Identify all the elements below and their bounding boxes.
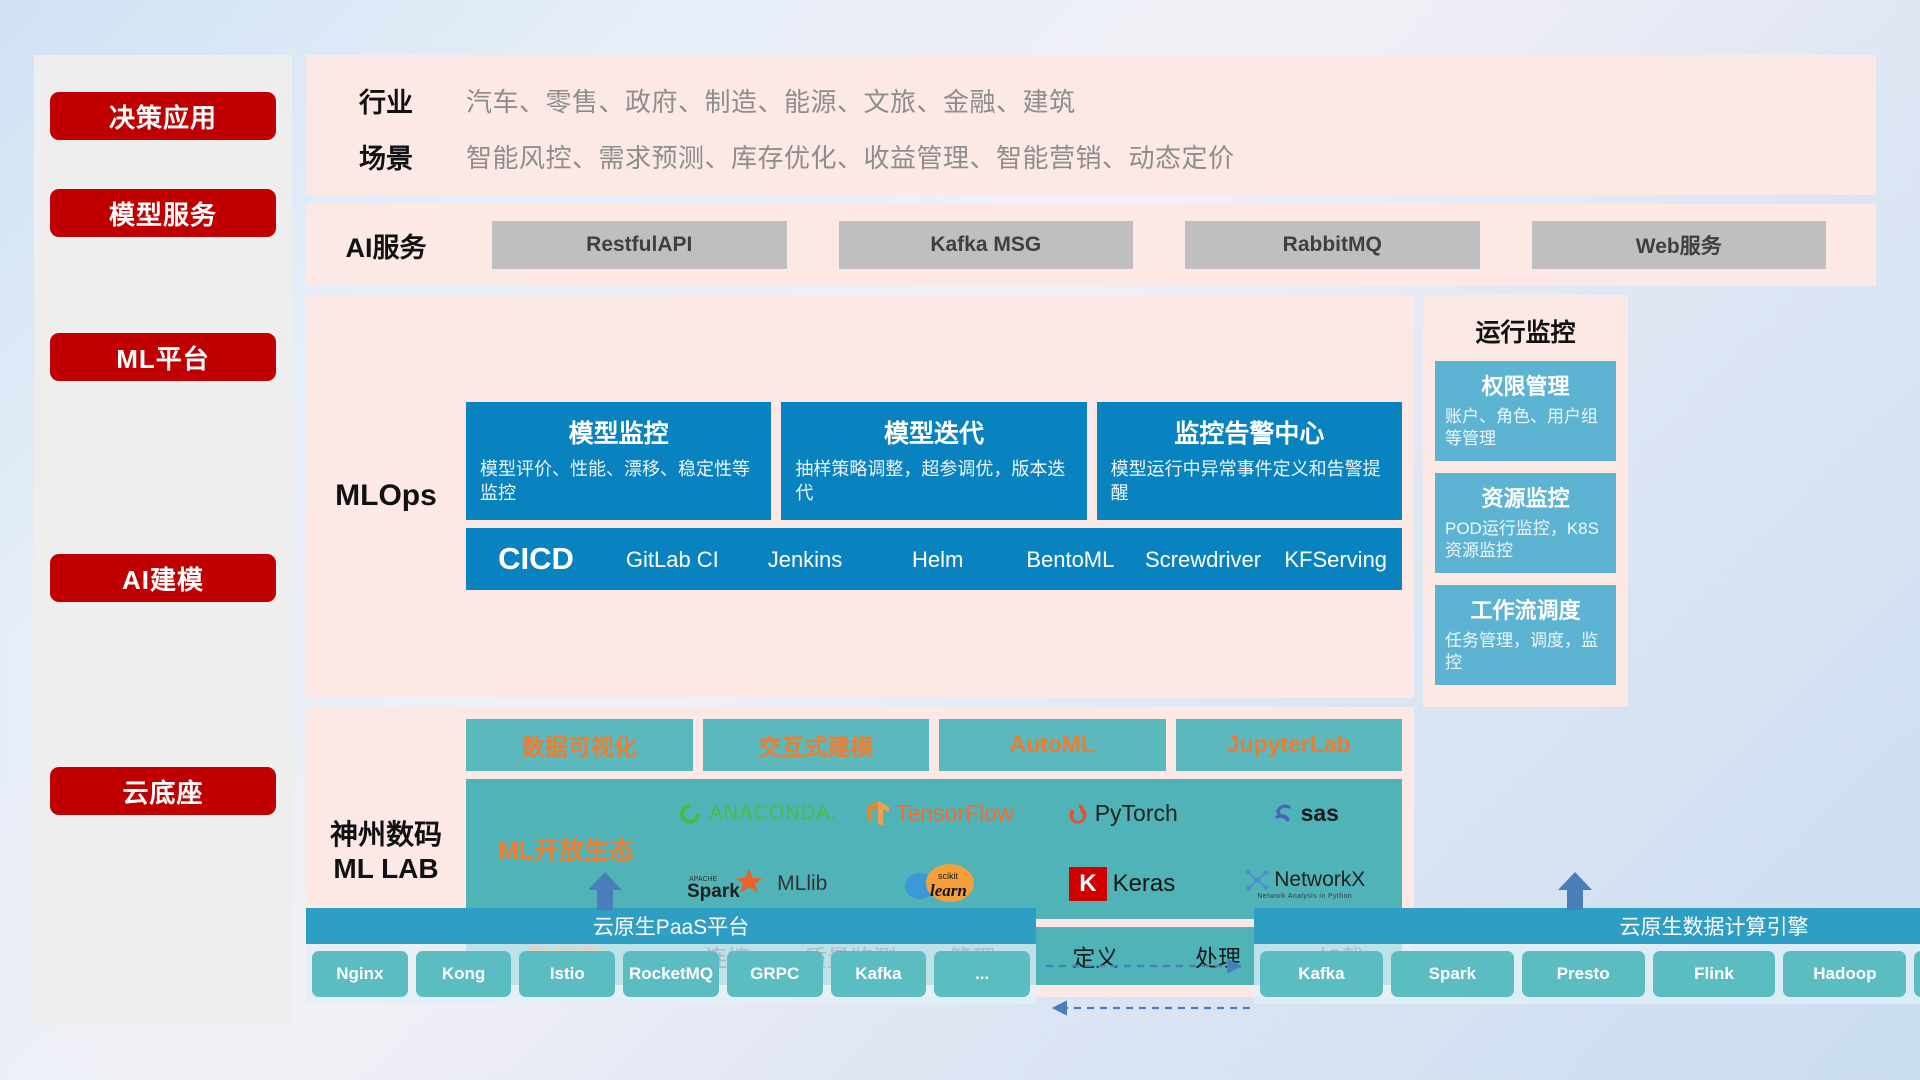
sas-logo: sas	[1271, 800, 1339, 827]
stack-layer-rail: 决策应用 模型服务 ML平台 AI建模 云底座	[34, 55, 292, 1025]
sas-logo-text: sas	[1301, 800, 1339, 827]
scenario-label: 场景	[306, 137, 466, 176]
paas-chip-kafka[interactable]: Kafka	[831, 951, 927, 997]
mlops-card-desc: 模型评价、性能、漂移、稳定性等监控	[480, 458, 757, 505]
monitor-card-permission[interactable]: 权限管理 账户、角色、用户组等管理	[1435, 361, 1616, 461]
panel-runtime-monitoring: 运行监控 权限管理 账户、角色、用户组等管理 资源监控 POD运行监控，K8S资…	[1423, 295, 1628, 707]
engine-chip-hadoop[interactable]: Hadoop	[1783, 951, 1906, 997]
monitor-card-resource[interactable]: 资源监控 POD运行监控，K8S资源监控	[1435, 473, 1616, 573]
mlops-card-title: 模型迭代	[795, 414, 1072, 450]
tensorflow-logo: TensorFlow	[866, 800, 1014, 828]
bidirectional-connector	[1044, 952, 1254, 1022]
mlops-card-desc: 抽样策略调整，超参调优，版本迭代	[795, 458, 1072, 505]
tool-chip-data-visualization[interactable]: 数据可视化	[466, 719, 693, 771]
paas-chip-rocketmq[interactable]: RocketMQ	[623, 951, 719, 997]
industry-value: 汽车、零售、政府、制造、能源、文旅、金融、建筑	[466, 82, 1076, 119]
engine-chip-presto[interactable]: Presto	[1522, 951, 1645, 997]
cloud-paas-header: 云原生PaaS平台	[306, 908, 1036, 944]
band-ai-service: AI服务 RestfulAPI Kafka MSG RabbitMQ Web服务	[306, 204, 1876, 286]
rail-item-decision-app[interactable]: 决策应用	[50, 92, 276, 140]
mlops-card-title: 监控告警中心	[1111, 414, 1388, 450]
monitor-card-title: 资源监控	[1445, 481, 1606, 513]
industry-label: 行业	[306, 81, 466, 120]
rail-item-ml-platform[interactable]: ML平台	[50, 333, 276, 381]
band-mlops: MLOps 模型监控 模型评价、性能、漂移、稳定性等监控 模型迭代 抽样策略调整…	[306, 295, 1414, 698]
ai-service-label: AI服务	[306, 226, 466, 265]
tool-chip-jupyterlab[interactable]: JupyterLab	[1176, 719, 1403, 771]
cicd-item-jenkins[interactable]: Jenkins	[739, 548, 872, 571]
paas-chip-nginx[interactable]: Nginx	[312, 951, 408, 997]
rail-item-ai-modeling[interactable]: AI建模	[50, 554, 276, 602]
monitor-panel-header: 运行监控	[1435, 313, 1616, 349]
tensorflow-mark-icon	[866, 800, 890, 828]
industry-row: 行业 汽车、零售、政府、制造、能源、文旅、金融、建筑	[306, 75, 1876, 125]
mlops-card-list: 模型监控 模型评价、性能、漂移、稳定性等监控 模型迭代 抽样策略调整，超参调优，…	[466, 402, 1402, 520]
ml-lab-tool-list: 数据可视化 交互式建模 AutoML JupyterLab	[466, 719, 1402, 771]
band-decision-application: 行业 汽车、零售、政府、制造、能源、文旅、金融、建筑 场景 智能风控、需求预测、…	[306, 55, 1876, 195]
anaconda-logo: ANACONDA.	[677, 801, 837, 827]
monitor-card-desc: POD运行监控，K8S资源监控	[1445, 518, 1606, 563]
pytorch-flame-icon	[1067, 801, 1089, 827]
monitor-card-desc: 账户、角色、用户组等管理	[1445, 406, 1606, 451]
cloud-paas-group: 云原生PaaS平台 Nginx Kong Istio RocketMQ GRPC…	[306, 908, 1036, 1004]
ai-chip-restful-api[interactable]: RestfulAPI	[492, 221, 787, 269]
monitor-card-title: 权限管理	[1445, 369, 1606, 401]
paas-chip-grpc[interactable]: GRPC	[727, 951, 823, 997]
scenario-row: 场景 智能风控、需求预测、库存优化、收益管理、智能营销、动态定价	[306, 131, 1876, 181]
mlops-card-desc: 模型运行中异常事件定义和告警提醒	[1111, 458, 1388, 505]
rail-item-cloud-base[interactable]: 云底座	[50, 767, 276, 815]
cloud-engine-group: 云原生数据计算引擎 Kafka Spark Presto Flink Hadoo…	[1254, 908, 1920, 1004]
paas-chip-more[interactable]: ...	[934, 951, 1030, 997]
mlops-card-model-monitoring[interactable]: 模型监控 模型评价、性能、漂移、稳定性等监控	[466, 402, 771, 520]
cloud-engine-chip-list: Kafka Spark Presto Flink Hadoop Storm ..…	[1254, 944, 1920, 1004]
ai-chip-rabbitmq[interactable]: RabbitMQ	[1185, 221, 1480, 269]
monitor-card-workflow[interactable]: 工作流调度 任务管理，调度，监控	[1435, 585, 1616, 685]
cloud-paas-chip-list: Nginx Kong Istio RocketMQ GRPC Kafka ...	[306, 944, 1036, 1004]
pytorch-logo-text: PyTorch	[1095, 800, 1178, 827]
ml-lab-label-line1: 神州数码	[306, 818, 466, 852]
pytorch-logo: PyTorch	[1067, 800, 1178, 827]
cicd-title: CICD	[466, 541, 606, 577]
ai-service-chip-list: RestfulAPI Kafka MSG RabbitMQ Web服务	[466, 221, 1876, 269]
monitor-card-title: 工作流调度	[1445, 593, 1606, 625]
mlops-label: MLOps	[306, 479, 466, 513]
cicd-item-kfserving[interactable]: KFServing	[1269, 548, 1402, 571]
cloud-engine-header: 云原生数据计算引擎	[1254, 908, 1920, 944]
anaconda-ring-icon	[677, 801, 703, 827]
tool-chip-automl[interactable]: AutoML	[939, 719, 1166, 771]
mlops-card-model-iteration[interactable]: 模型迭代 抽样策略调整，超参调优，版本迭代	[781, 402, 1086, 520]
scenario-value: 智能风控、需求预测、库存优化、收益管理、智能营销、动态定价	[466, 138, 1235, 175]
engine-chip-spark[interactable]: Spark	[1391, 951, 1514, 997]
tool-chip-interactive-modeling[interactable]: 交互式建模	[703, 719, 930, 771]
up-arrow-icon	[1554, 870, 1596, 912]
ai-chip-web-service[interactable]: Web服务	[1532, 221, 1827, 269]
cicd-item-gitlab-ci[interactable]: GitLab CI	[606, 548, 739, 571]
sas-swirl-icon	[1271, 802, 1295, 826]
mlops-card-title: 模型监控	[480, 414, 757, 450]
cicd-item-screwdriver[interactable]: Screwdriver	[1137, 548, 1270, 571]
paas-chip-kong[interactable]: Kong	[416, 951, 512, 997]
monitor-card-desc: 任务管理，调度，监控	[1445, 630, 1606, 675]
ai-chip-kafka-msg[interactable]: Kafka MSG	[839, 221, 1134, 269]
mlops-content: 模型监控 模型评价、性能、漂移、稳定性等监控 模型迭代 抽样策略调整，超参调优，…	[466, 402, 1414, 590]
engine-chip-flink[interactable]: Flink	[1653, 951, 1776, 997]
engine-chip-kafka[interactable]: Kafka	[1260, 951, 1383, 997]
cicd-bar: CICD GitLab CI Jenkins Helm BentoML Scre…	[466, 528, 1402, 590]
cicd-item-bentoml[interactable]: BentoML	[1004, 548, 1137, 571]
cicd-item-helm[interactable]: Helm	[871, 548, 1004, 571]
anaconda-logo-text: ANACONDA.	[709, 802, 837, 825]
row-ml-platform: MLOps 模型监控 模型评价、性能、漂移、稳定性等监控 模型迭代 抽样策略调整…	[306, 295, 1876, 707]
engine-chip-storm[interactable]: Storm	[1914, 951, 1920, 997]
tensorflow-logo-text: TensorFlow	[896, 800, 1014, 827]
rail-item-model-service[interactable]: 模型服务	[50, 189, 276, 237]
mlops-card-alert-center[interactable]: 监控告警中心 模型运行中异常事件定义和告警提醒	[1097, 402, 1402, 520]
cicd-item-list: GitLab CI Jenkins Helm BentoML Screwdriv…	[606, 548, 1402, 571]
paas-chip-istio[interactable]: Istio	[519, 951, 615, 997]
architecture-main: 行业 汽车、零售、政府、制造、能源、文旅、金融、建筑 场景 智能风控、需求预测、…	[306, 55, 1876, 1006]
band-cloud-base: 云原生PaaS平台 Nginx Kong Istio RocketMQ GRPC…	[306, 870, 1876, 1040]
up-arrow-icon	[584, 870, 626, 912]
